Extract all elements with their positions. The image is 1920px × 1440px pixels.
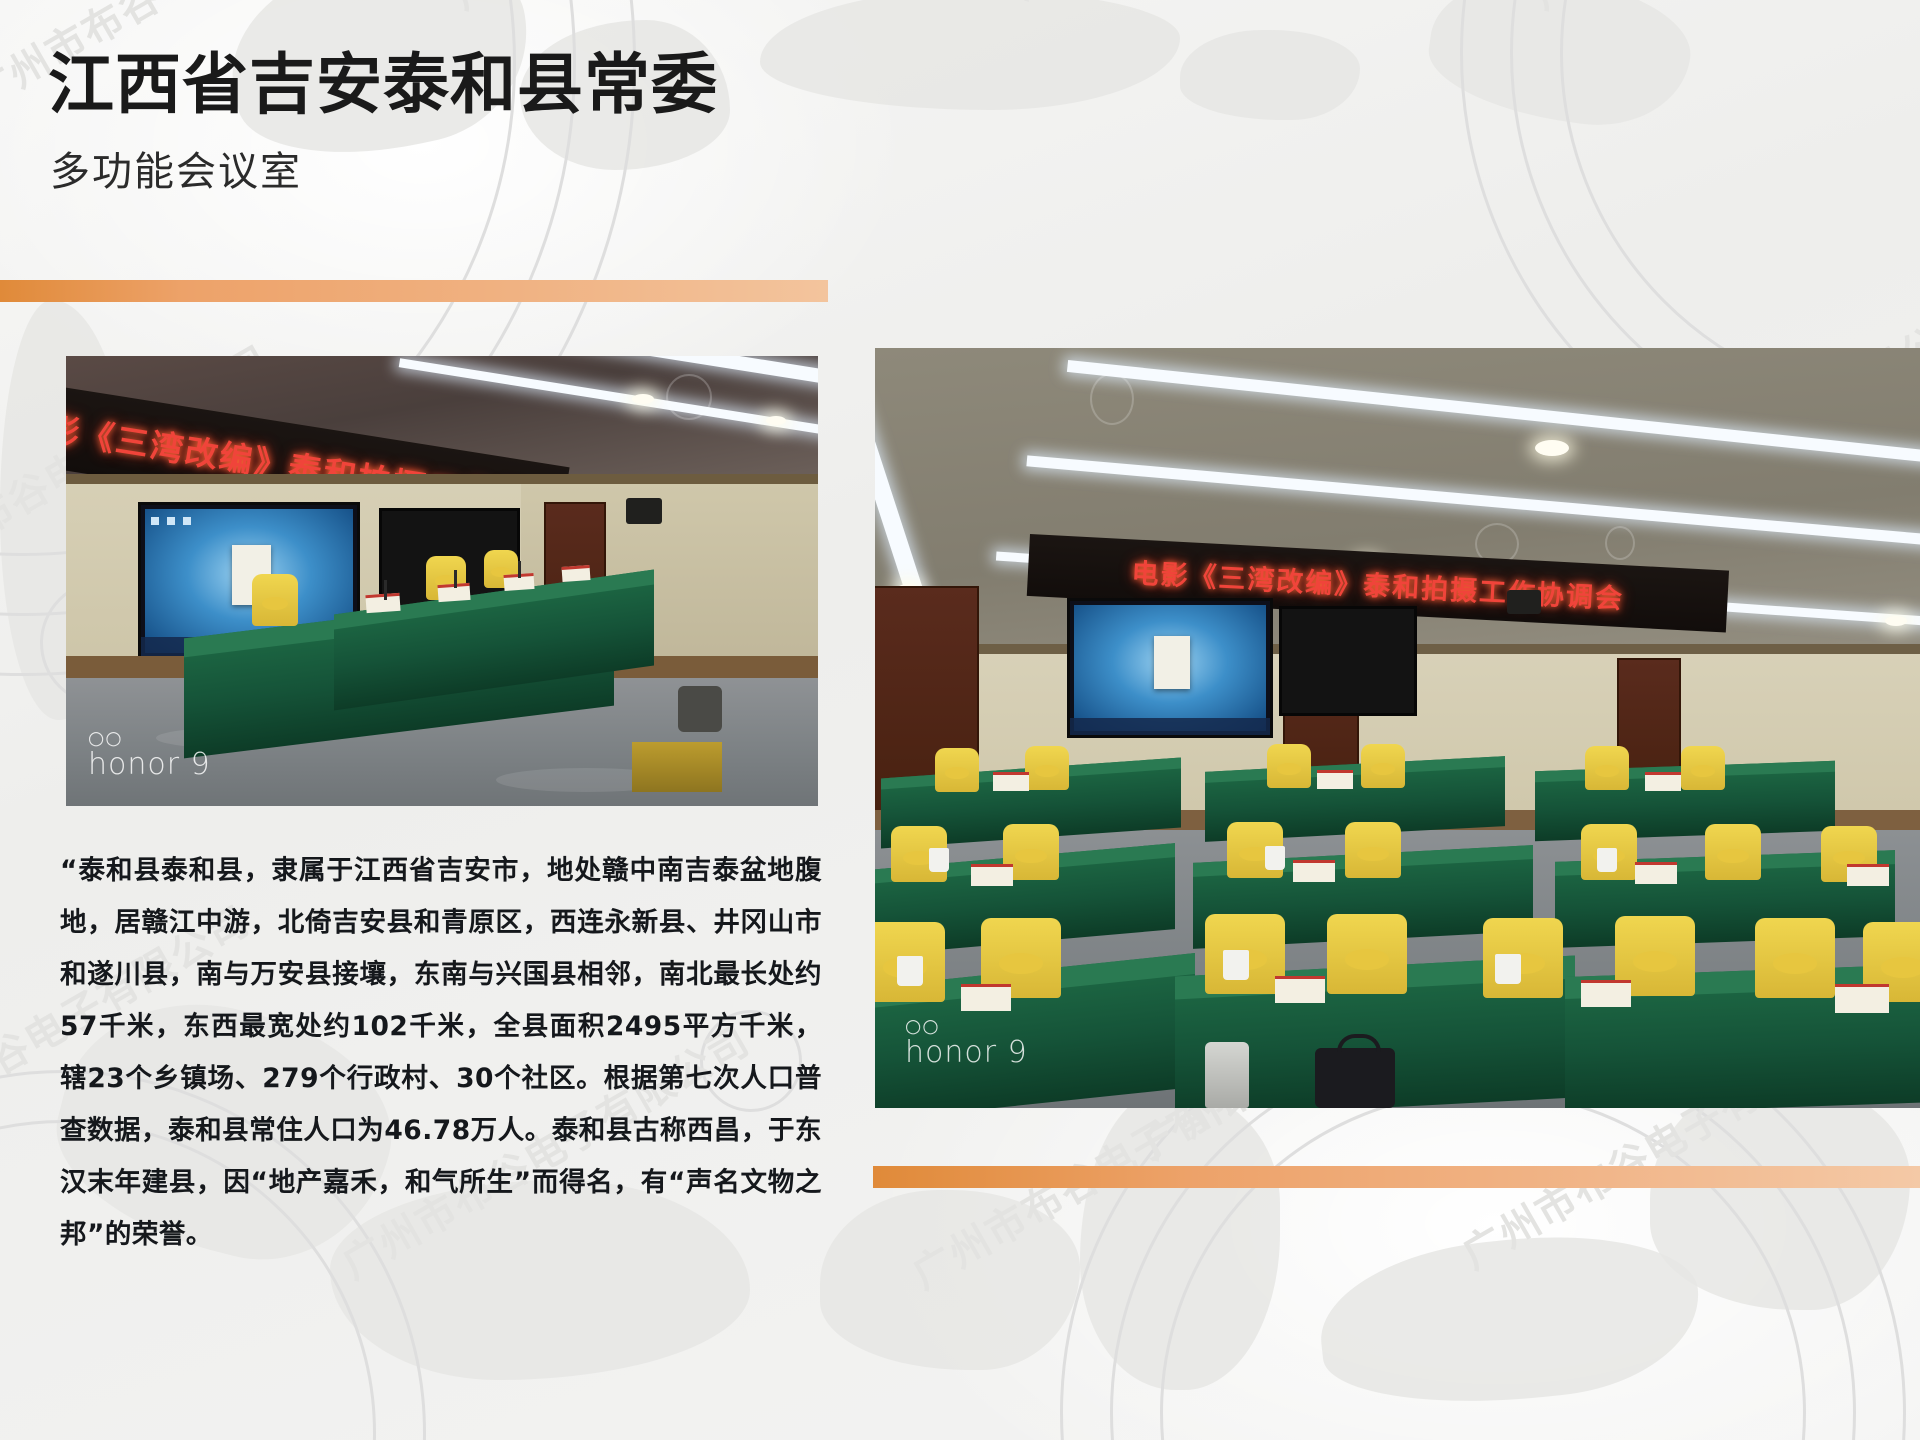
watermark-text: 广州市布谷电子有限公司 xyxy=(1000,0,1429,10)
camera-watermark: ○○ honor 9 xyxy=(905,1018,1028,1068)
page-title: 江西省吉安泰和县常委 xyxy=(48,52,718,118)
watermark-text: 广州市布谷电子有限公司 xyxy=(1520,0,1920,20)
watermark-text: 广州市布谷电子有限公司 xyxy=(440,0,869,20)
honor-label: honor 9 xyxy=(905,1038,1028,1068)
slide-header: 江西省吉安泰和县常委 多功能会议室 xyxy=(48,52,718,192)
description-paragraph: “泰和县泰和县，隶属于江西省吉安市，地处赣中南吉泰盆地腹地，居赣江中游，北倚吉安… xyxy=(60,845,822,1261)
page-subtitle: 多功能会议室 xyxy=(50,152,718,192)
presentation-slide: 广州市布谷电子有限公司 广州市布谷电子有限公司 广州市布谷电子有限公司 广州市布… xyxy=(0,0,1920,1440)
photo-meeting-room-front[interactable]: 电影《三湾改编》泰和拍摄工作协调会 xyxy=(66,356,818,806)
photo-meeting-room-wide[interactable]: 电影《三湾改编》泰和拍摄工作协调会 xyxy=(875,348,1920,1108)
honor-label: honor 9 xyxy=(88,750,211,780)
accent-rule-top xyxy=(0,280,828,302)
camera-watermark: ○○ honor 9 xyxy=(88,730,211,780)
accent-rule-bottom xyxy=(873,1166,1920,1188)
